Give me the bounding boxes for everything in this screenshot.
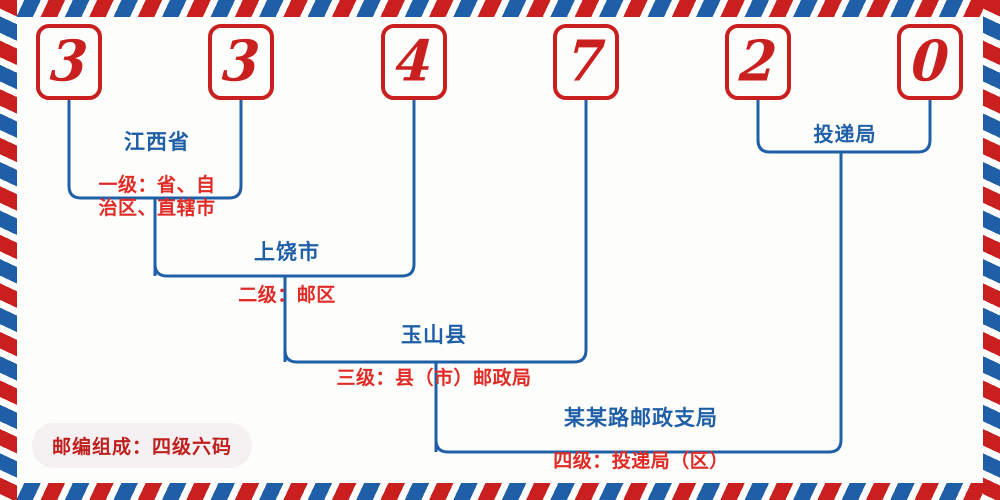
level-3-title: 玉山县 [300,323,568,348]
level-1-subtitle: 一级：省、自 治区、直辖市 [72,174,242,220]
postcode-infographic: 3 3 4 7 2 0 投递局 江西省 一级：省、自 治区、直辖市 上饶市 二级… [0,0,1000,500]
level-3-subtitle: 三级：县（市）邮政局 [300,367,568,390]
label-delivery-office: 投递局 [760,105,930,165]
legend-badge: 邮编组成：四级六码 [32,423,252,468]
label-level-1: 江西省 一级：省、自 治区、直辖市 [72,112,242,238]
level-2-title: 上饶市 [192,240,382,265]
delivery-office-title: 投递局 [760,123,930,147]
level-2-subtitle: 二级：邮区 [192,284,382,307]
level-1-title: 江西省 [72,130,242,155]
label-level-4: 某某路邮政支局 四级：投递局（区） [505,388,777,491]
level-4-title: 某某路邮政支局 [505,406,777,431]
level-4-subtitle: 四级：投递局（区） [505,450,777,473]
